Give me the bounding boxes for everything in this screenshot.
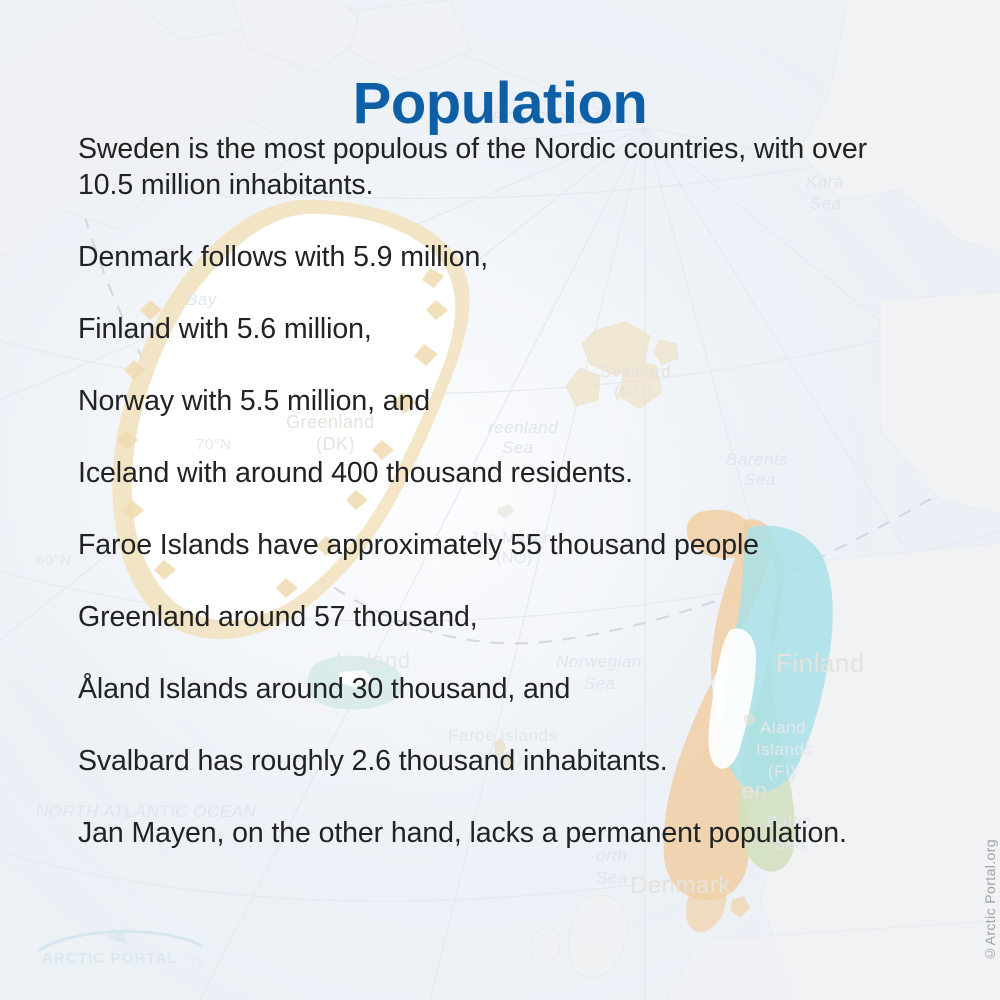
paragraph-janmayen: Jan Mayen, on the other hand, lacks a pe… bbox=[78, 815, 924, 851]
copyright-credit: ©Arctic Portal.org bbox=[982, 839, 998, 962]
body-text-block: Sweden is the most populous of the Nordi… bbox=[78, 131, 924, 851]
paragraph-greenland: Greenland around 57 thousand, bbox=[78, 599, 924, 635]
logo-wordmark: ARCTIC PORTAL.org bbox=[42, 950, 205, 967]
map-label-lat-60n: 60°N bbox=[36, 552, 72, 569]
europe-shape bbox=[660, 920, 1000, 1000]
paragraph-svalbard: Svalbard has roughly 2.6 thousand inhabi… bbox=[78, 743, 924, 779]
logo-wordmark-main: ARCTIC PORTAL bbox=[42, 950, 178, 967]
page-title: Population bbox=[0, 75, 1000, 133]
logo-wordmark-suffix: .org bbox=[178, 950, 205, 967]
slide-canvas: ARCTIC OCEANKaraSeaBaySvalbard(NO)reenla… bbox=[0, 0, 1000, 1000]
paragraph-sweden: Sweden is the most populous of the Nordi… bbox=[78, 131, 924, 203]
map-label-denmark-label: Denmark bbox=[630, 872, 731, 900]
arctic-portal-logo[interactable]: ARCTIC PORTAL.org bbox=[36, 924, 206, 982]
british-isles-shape bbox=[531, 895, 628, 978]
paragraph-faroe: Faroe Islands have approximately 55 thou… bbox=[78, 527, 924, 563]
denmark-shape bbox=[686, 876, 750, 932]
paragraph-finland: Finland with 5.6 million, bbox=[78, 311, 924, 347]
map-label-north-sea-2: Sea bbox=[596, 868, 628, 888]
paragraph-iceland: Iceland with around 400 thousand residen… bbox=[78, 455, 924, 491]
paragraph-norway: Norway with 5.5 million, and bbox=[78, 383, 924, 419]
paragraph-aland: Åland Islands around 30 thousand, and bbox=[78, 671, 924, 707]
paragraph-denmark: Denmark follows with 5.9 million, bbox=[78, 239, 924, 275]
